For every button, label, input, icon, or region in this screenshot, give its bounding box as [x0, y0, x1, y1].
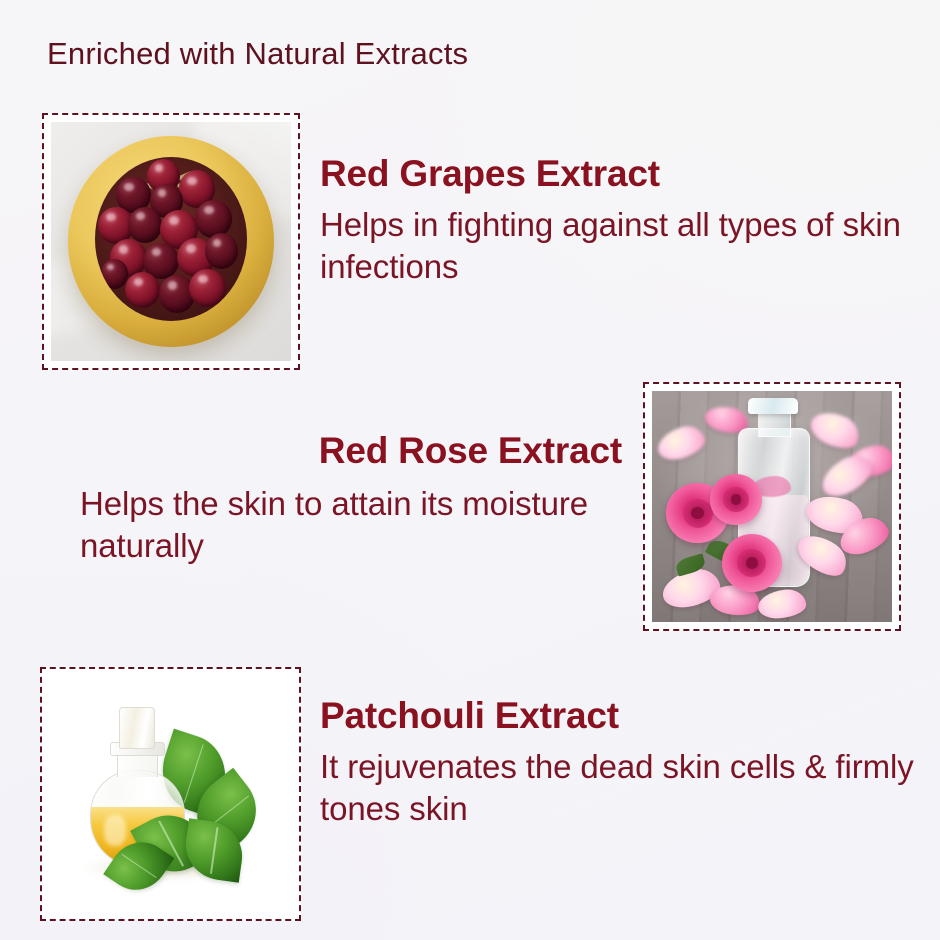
patchouli-heading: Patchouli Extract — [320, 697, 920, 736]
flask-stopper — [119, 707, 155, 749]
patchouli-description: It rejuvenates the dead skin cells & fir… — [320, 746, 920, 830]
leaf-vein — [183, 744, 203, 803]
red-grapes-photo-frame — [42, 113, 300, 370]
grape — [101, 259, 128, 289]
red-grapes-heading: Red Grapes Extract — [320, 155, 910, 194]
patchouli-photo-frame — [40, 667, 301, 921]
red-rose-text-block: Red Rose Extract Helps the skin to attai… — [40, 432, 622, 567]
rose-water-bottle-with-pink-petals-photo — [652, 391, 892, 622]
yellow-bowl — [68, 136, 274, 346]
leaf-vein — [210, 827, 218, 874]
patchouli-text-block: Patchouli Extract It rejuvenates the dea… — [320, 697, 920, 830]
red-rose-description: Helps the skin to attain its moisture na… — [40, 483, 622, 567]
grape — [195, 200, 232, 238]
patchouli-oil-bottle-with-green-leaves-photo — [49, 676, 292, 912]
pink-rose-bloom — [722, 534, 782, 592]
pink-rose-bloom — [710, 474, 763, 525]
grape — [128, 207, 162, 243]
bowl-interior — [95, 157, 248, 321]
red-rose-photo-frame — [643, 382, 901, 631]
grape — [125, 272, 160, 308]
grape — [189, 269, 226, 307]
leaf-vein — [121, 854, 156, 879]
red-grapes-text-block: Red Grapes Extract Helps in fighting aga… — [320, 155, 910, 288]
red-rose-heading: Red Rose Extract — [40, 432, 622, 471]
ingredients-infographic-poster: Enriched with Natural Extracts — [0, 0, 940, 940]
grape — [205, 233, 239, 269]
red-grapes-description: Helps in fighting against all types of s… — [320, 204, 910, 288]
red-grapes-in-yellow-bowl-photo — [51, 122, 291, 361]
page-title: Enriched with Natural Extracts — [47, 36, 468, 72]
bottle-stopper — [748, 398, 798, 414]
